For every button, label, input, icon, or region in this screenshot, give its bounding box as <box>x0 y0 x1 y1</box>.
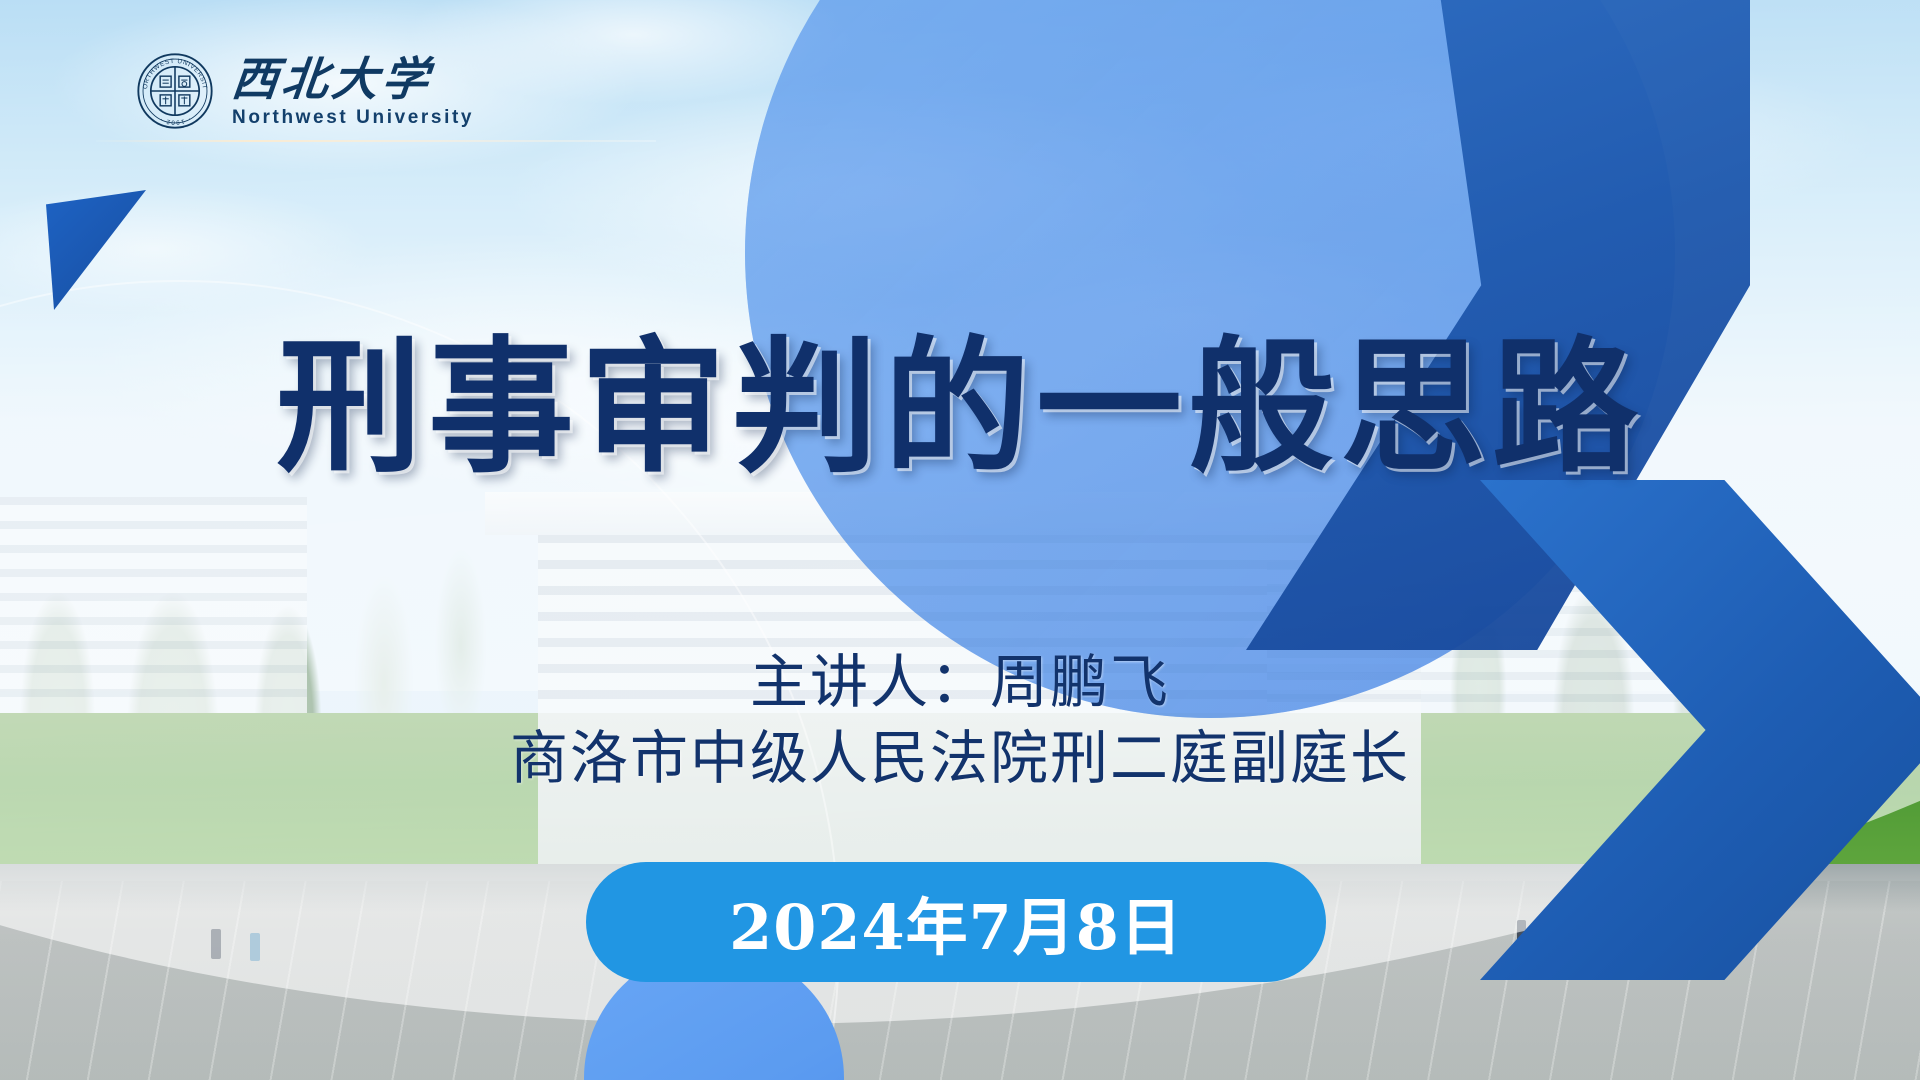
slide-subtitle: 主讲人：周鹏飞 商洛市中级人民法院刑二庭副庭长 <box>0 645 1920 795</box>
presentation-slide: NORTHWEST UNIVERSITY · 1902 · 西北大学 North… <box>0 0 1920 1080</box>
header-rule <box>96 140 656 142</box>
university-name-chinese: 西北大学 <box>230 56 477 102</box>
university-logo: NORTHWEST UNIVERSITY · 1902 · 西北大学 North… <box>136 52 474 130</box>
date-badge: 2024年7月8日 <box>586 862 1326 982</box>
presenter-line: 主讲人：周鹏飞 <box>0 645 1920 719</box>
affiliation-line: 商洛市中级人民法院刑二庭副庭长 <box>0 721 1920 795</box>
slide-title: 刑事审判的一般思路 <box>0 290 1920 501</box>
date-text: 2024年7月8日 <box>729 877 1183 967</box>
svg-text:NORTHWEST UNIVERSITY: NORTHWEST UNIVERSITY <box>136 52 208 90</box>
svg-text:· 1902 ·: · 1902 · <box>158 115 191 126</box>
university-seal-icon: NORTHWEST UNIVERSITY · 1902 · <box>136 52 214 130</box>
university-name-english: Northwest University <box>232 108 474 127</box>
